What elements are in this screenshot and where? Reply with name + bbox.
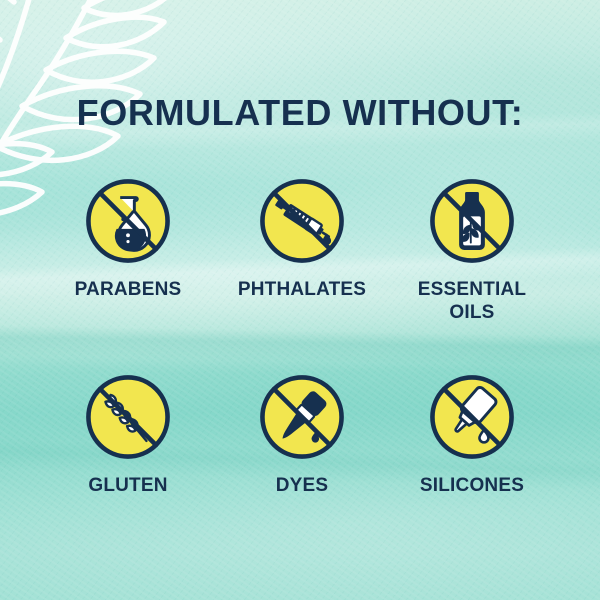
badge-essential-oils[interactable]: ESSENTIAL OILS bbox=[394, 175, 550, 325]
syringe-icon bbox=[256, 175, 348, 267]
product-claims-infographic: FORMULATED WITHOUT: bbox=[0, 0, 600, 600]
badge-gluten[interactable]: GLUTEN bbox=[50, 371, 206, 497]
badge-label: ESSENTIAL OILS bbox=[418, 279, 526, 325]
badge-row-2: GLUTEN bbox=[50, 371, 550, 497]
badge-label: DYES bbox=[276, 475, 329, 497]
badge-label: PHTHALATES bbox=[238, 279, 366, 301]
bottle-leaf-icon bbox=[426, 175, 518, 267]
badge-parabens[interactable]: PARABENS bbox=[50, 175, 206, 325]
eyedropper-icon bbox=[256, 371, 348, 463]
badge-grid: PARABENS bbox=[50, 175, 550, 497]
page-title: FORMULATED WITHOUT: bbox=[0, 92, 600, 134]
badge-phthalates[interactable]: PHTHALATES bbox=[224, 175, 380, 325]
wheat-icon bbox=[82, 371, 174, 463]
badge-label: GLUTEN bbox=[88, 475, 167, 497]
badge-dyes[interactable]: DYES bbox=[224, 371, 380, 497]
badge-label: SILICONES bbox=[420, 475, 524, 497]
badge-label: PARABENS bbox=[75, 279, 182, 301]
squeeze-bottle-icon bbox=[426, 371, 518, 463]
badge-silicones[interactable]: SILICONES bbox=[394, 371, 550, 497]
badge-row-1: PARABENS bbox=[50, 175, 550, 325]
flask-icon bbox=[82, 175, 174, 267]
